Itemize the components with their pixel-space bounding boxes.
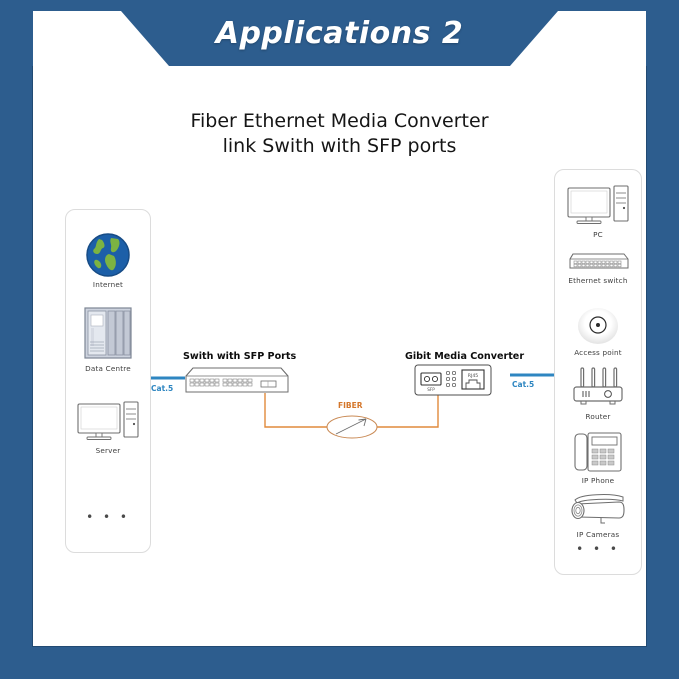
converter-device-title: Gibit Media Converter bbox=[405, 351, 524, 362]
sfp-switch-icon bbox=[181, 365, 291, 397]
server-rack-icon bbox=[83, 306, 133, 362]
node-label: Server bbox=[66, 446, 150, 455]
fiber-line-left bbox=[265, 393, 328, 427]
fiber-label: FIBER bbox=[338, 401, 363, 410]
bullet-camera-icon bbox=[567, 492, 629, 528]
media-converter-device[interactable]: SFP RJ45 bbox=[413, 363, 493, 397]
desktop-computer-icon bbox=[566, 184, 630, 228]
node-ethernet-switch[interactable]: Ethernet switch bbox=[555, 250, 641, 285]
node-router[interactable]: Router bbox=[555, 366, 641, 421]
switch-sfp-slot bbox=[261, 381, 276, 387]
node-pc[interactable]: PC bbox=[555, 184, 641, 239]
left-network-panel: Internet bbox=[65, 209, 151, 553]
switch-device[interactable] bbox=[181, 365, 291, 397]
node-server[interactable]: Server bbox=[66, 400, 150, 455]
node-label: Router bbox=[555, 412, 641, 421]
switch-device-title: Swith with SFP Ports bbox=[183, 351, 296, 362]
left-panel-more-indicator: • • • bbox=[66, 510, 150, 524]
converter-rj45-label: RJ45 bbox=[468, 373, 478, 379]
right-panel-more-indicator: • • • bbox=[555, 542, 641, 556]
ip-phone-icon bbox=[572, 430, 624, 474]
fiber-medium-ellipse bbox=[327, 416, 377, 438]
router-icon bbox=[570, 366, 626, 410]
node-internet[interactable]: Internet bbox=[66, 232, 150, 289]
globe-icon bbox=[85, 232, 131, 278]
node-label: Access point bbox=[555, 348, 641, 357]
node-label: Data Centre bbox=[66, 364, 150, 373]
converter-rj45-port bbox=[462, 370, 484, 389]
fiber-line-right bbox=[376, 393, 438, 427]
node-data-centre[interactable]: Data Centre bbox=[66, 306, 150, 373]
converter-sfp-label: SFP bbox=[427, 387, 435, 392]
desktop-computer-icon bbox=[76, 400, 140, 444]
cat5-left-label: Cat.5 bbox=[151, 384, 173, 393]
node-label: Ethernet switch bbox=[555, 276, 641, 285]
node-label: IP Cameras bbox=[555, 530, 641, 539]
node-ip-cameras[interactable]: IP Cameras bbox=[555, 492, 641, 539]
node-label: Internet bbox=[66, 280, 150, 289]
cat5-right-label: Cat.5 bbox=[512, 380, 534, 389]
node-label: PC bbox=[555, 230, 641, 239]
switch-icon bbox=[566, 250, 630, 274]
node-label: IP Phone bbox=[555, 476, 641, 485]
application-slide: Applications 2 Fiber Ethernet Media Conv… bbox=[0, 0, 679, 679]
access-point-icon bbox=[576, 306, 620, 346]
node-ip-phone[interactable]: IP Phone bbox=[555, 430, 641, 485]
right-network-panel: PC bbox=[554, 169, 642, 575]
media-converter-icon: SFP RJ45 bbox=[413, 363, 493, 397]
node-access-point[interactable]: Access point bbox=[555, 306, 641, 357]
slide-canvas: Applications 2 Fiber Ethernet Media Conv… bbox=[33, 33, 646, 646]
